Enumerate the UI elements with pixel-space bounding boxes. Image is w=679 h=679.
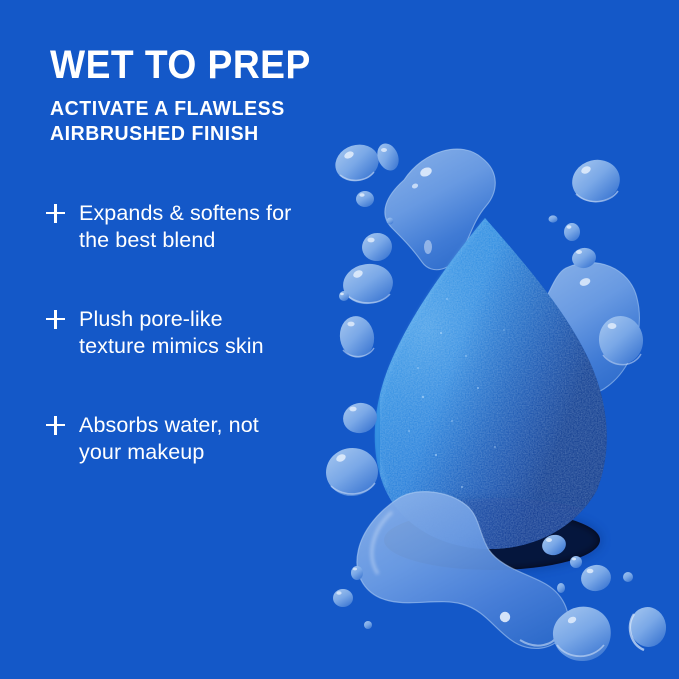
plus-icon xyxy=(46,414,65,436)
list-item: Expands & softens for the best blend xyxy=(46,200,351,254)
benefit-line-1: Absorbs water, not xyxy=(79,412,351,439)
subtitle: ACTIVATE A FLAWLESS AIRBRUSHED FINISH xyxy=(50,96,335,146)
subtitle-line-1: ACTIVATE A FLAWLESS xyxy=(50,96,335,121)
droplet xyxy=(557,583,565,593)
plus-icon xyxy=(46,308,65,330)
list-item: Plush pore-like texture mimics skin xyxy=(46,306,351,360)
page-title: WET TO PREP xyxy=(50,44,311,86)
droplet xyxy=(623,572,633,582)
benefits-list: Expands & softens for the best blend Plu… xyxy=(46,200,351,466)
droplet xyxy=(364,621,372,629)
list-item: Absorbs water, not your makeup xyxy=(46,412,351,466)
subtitle-line-2: AIRBRUSHED FINISH xyxy=(50,121,335,146)
benefit-line-2: your makeup xyxy=(79,439,351,466)
plus-icon xyxy=(46,202,65,224)
droplet xyxy=(351,566,363,580)
product-feature-graphic: WET TO PREP ACTIVATE A FLAWLESS AIRBRUSH… xyxy=(0,0,679,679)
droplet xyxy=(570,556,582,568)
droplet xyxy=(356,191,374,207)
benefit-line-1: Plush pore-like xyxy=(79,306,351,333)
benefit-line-2: the best blend xyxy=(79,227,351,254)
droplet xyxy=(564,223,580,241)
benefit-line-2: texture mimics skin xyxy=(79,333,351,360)
droplet xyxy=(549,215,558,222)
droplet xyxy=(333,589,353,607)
droplet xyxy=(387,218,394,225)
benefit-line-1: Expands & softens for xyxy=(79,200,351,227)
